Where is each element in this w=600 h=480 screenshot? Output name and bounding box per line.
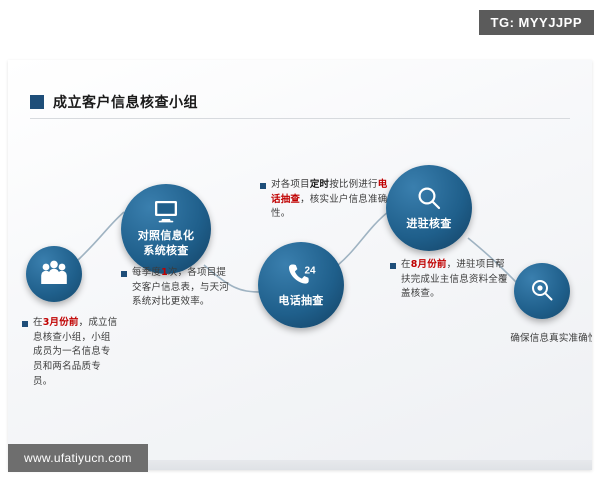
text-system: 每季度1次，各项目提交客户信息表，与天河系统对比更效率。 xyxy=(121,266,233,310)
url-watermark: www.ufatiyucn.com xyxy=(8,444,148,472)
node-system-label: 对照信息化系统核查 xyxy=(138,229,195,259)
monitor-icon xyxy=(151,199,181,226)
text-left-body: 在3月份前，成立信息核查小组，小组成员为一名信息专员和两名品质专员。 xyxy=(33,316,118,390)
bullet-icon xyxy=(22,321,28,327)
svg-text:24: 24 xyxy=(305,265,317,276)
telegram-watermark: TG: MYYJJPP xyxy=(479,10,594,35)
text-result: 确保信息真实准确性 xyxy=(508,332,592,347)
bullet-icon xyxy=(121,271,127,277)
node-system-check[interactable]: 对照信息化系统核查 xyxy=(121,184,211,274)
bullet-icon xyxy=(390,263,396,269)
slide-canvas: 成立客户信息核查小组 对照信息化系统核查 xyxy=(8,60,592,470)
node-onsite-check[interactable]: 进驻核查 xyxy=(386,165,472,251)
text-telephone-body: 对各项目定时按比例进行电话抽查，核实业户信息准确性。 xyxy=(271,178,388,222)
node-result[interactable] xyxy=(514,263,570,319)
text-system-body: 每季度1次，各项目提交客户信息表，与天河系统对比更效率。 xyxy=(132,266,233,310)
phone-24-icon: 24 xyxy=(286,262,316,291)
text-entry: 在8月份前，进驻项目帮扶完成业主信息资料全覆盖核查。 xyxy=(390,258,508,302)
magnifier-icon xyxy=(416,185,442,214)
node-people[interactable] xyxy=(26,246,82,302)
node-telephone-sampling[interactable]: 24 电话抽查 xyxy=(258,242,344,328)
bullet-icon xyxy=(260,183,266,189)
text-left: 在3月份前，成立信息核查小组，小组成员为一名信息专员和两名品质专员。 xyxy=(22,316,118,390)
node-telephone-label: 电话抽查 xyxy=(278,294,323,309)
magnifier-target-icon xyxy=(529,277,555,306)
node-entry-label: 进驻核查 xyxy=(406,217,451,232)
text-telephone: 对各项目定时按比例进行电话抽查，核实业户信息准确性。 xyxy=(260,178,388,222)
text-entry-body: 在8月份前，进驻项目帮扶完成业主信息资料全覆盖核查。 xyxy=(401,258,508,302)
people-group-icon xyxy=(39,260,69,289)
